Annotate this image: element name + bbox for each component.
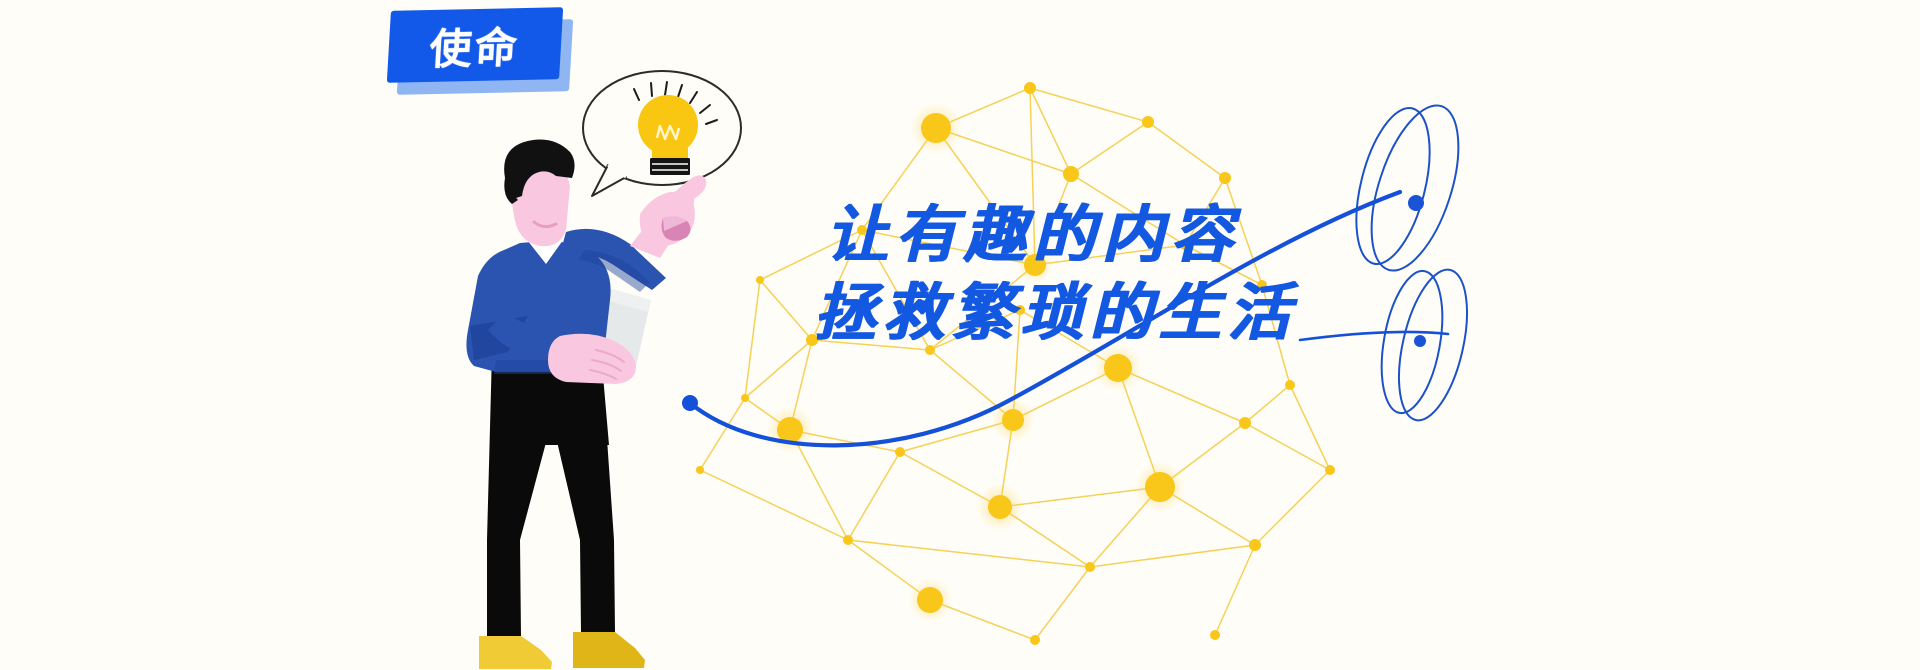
character-holding-hand xyxy=(488,312,636,384)
banner-canvas: 使命 让有趣的内容 拯救繁琐的生活 xyxy=(0,0,1920,670)
character-head xyxy=(504,140,574,247)
headline-line-2: 拯救繁琐的生活 xyxy=(813,274,1525,352)
mission-badge: 使命 xyxy=(389,9,569,91)
headline-line-1: 让有趣的内容 xyxy=(825,196,1525,274)
character-shirt xyxy=(466,230,610,374)
tablet xyxy=(568,282,651,375)
mission-badge-label: 使命 xyxy=(387,7,563,83)
character-pointing-arm xyxy=(560,175,706,292)
idea-speech-bubble xyxy=(583,71,741,196)
headline: 让有趣的内容 拯救繁琐的生活 xyxy=(825,196,1525,352)
character-pants xyxy=(487,352,615,636)
character-shoes xyxy=(479,632,645,669)
